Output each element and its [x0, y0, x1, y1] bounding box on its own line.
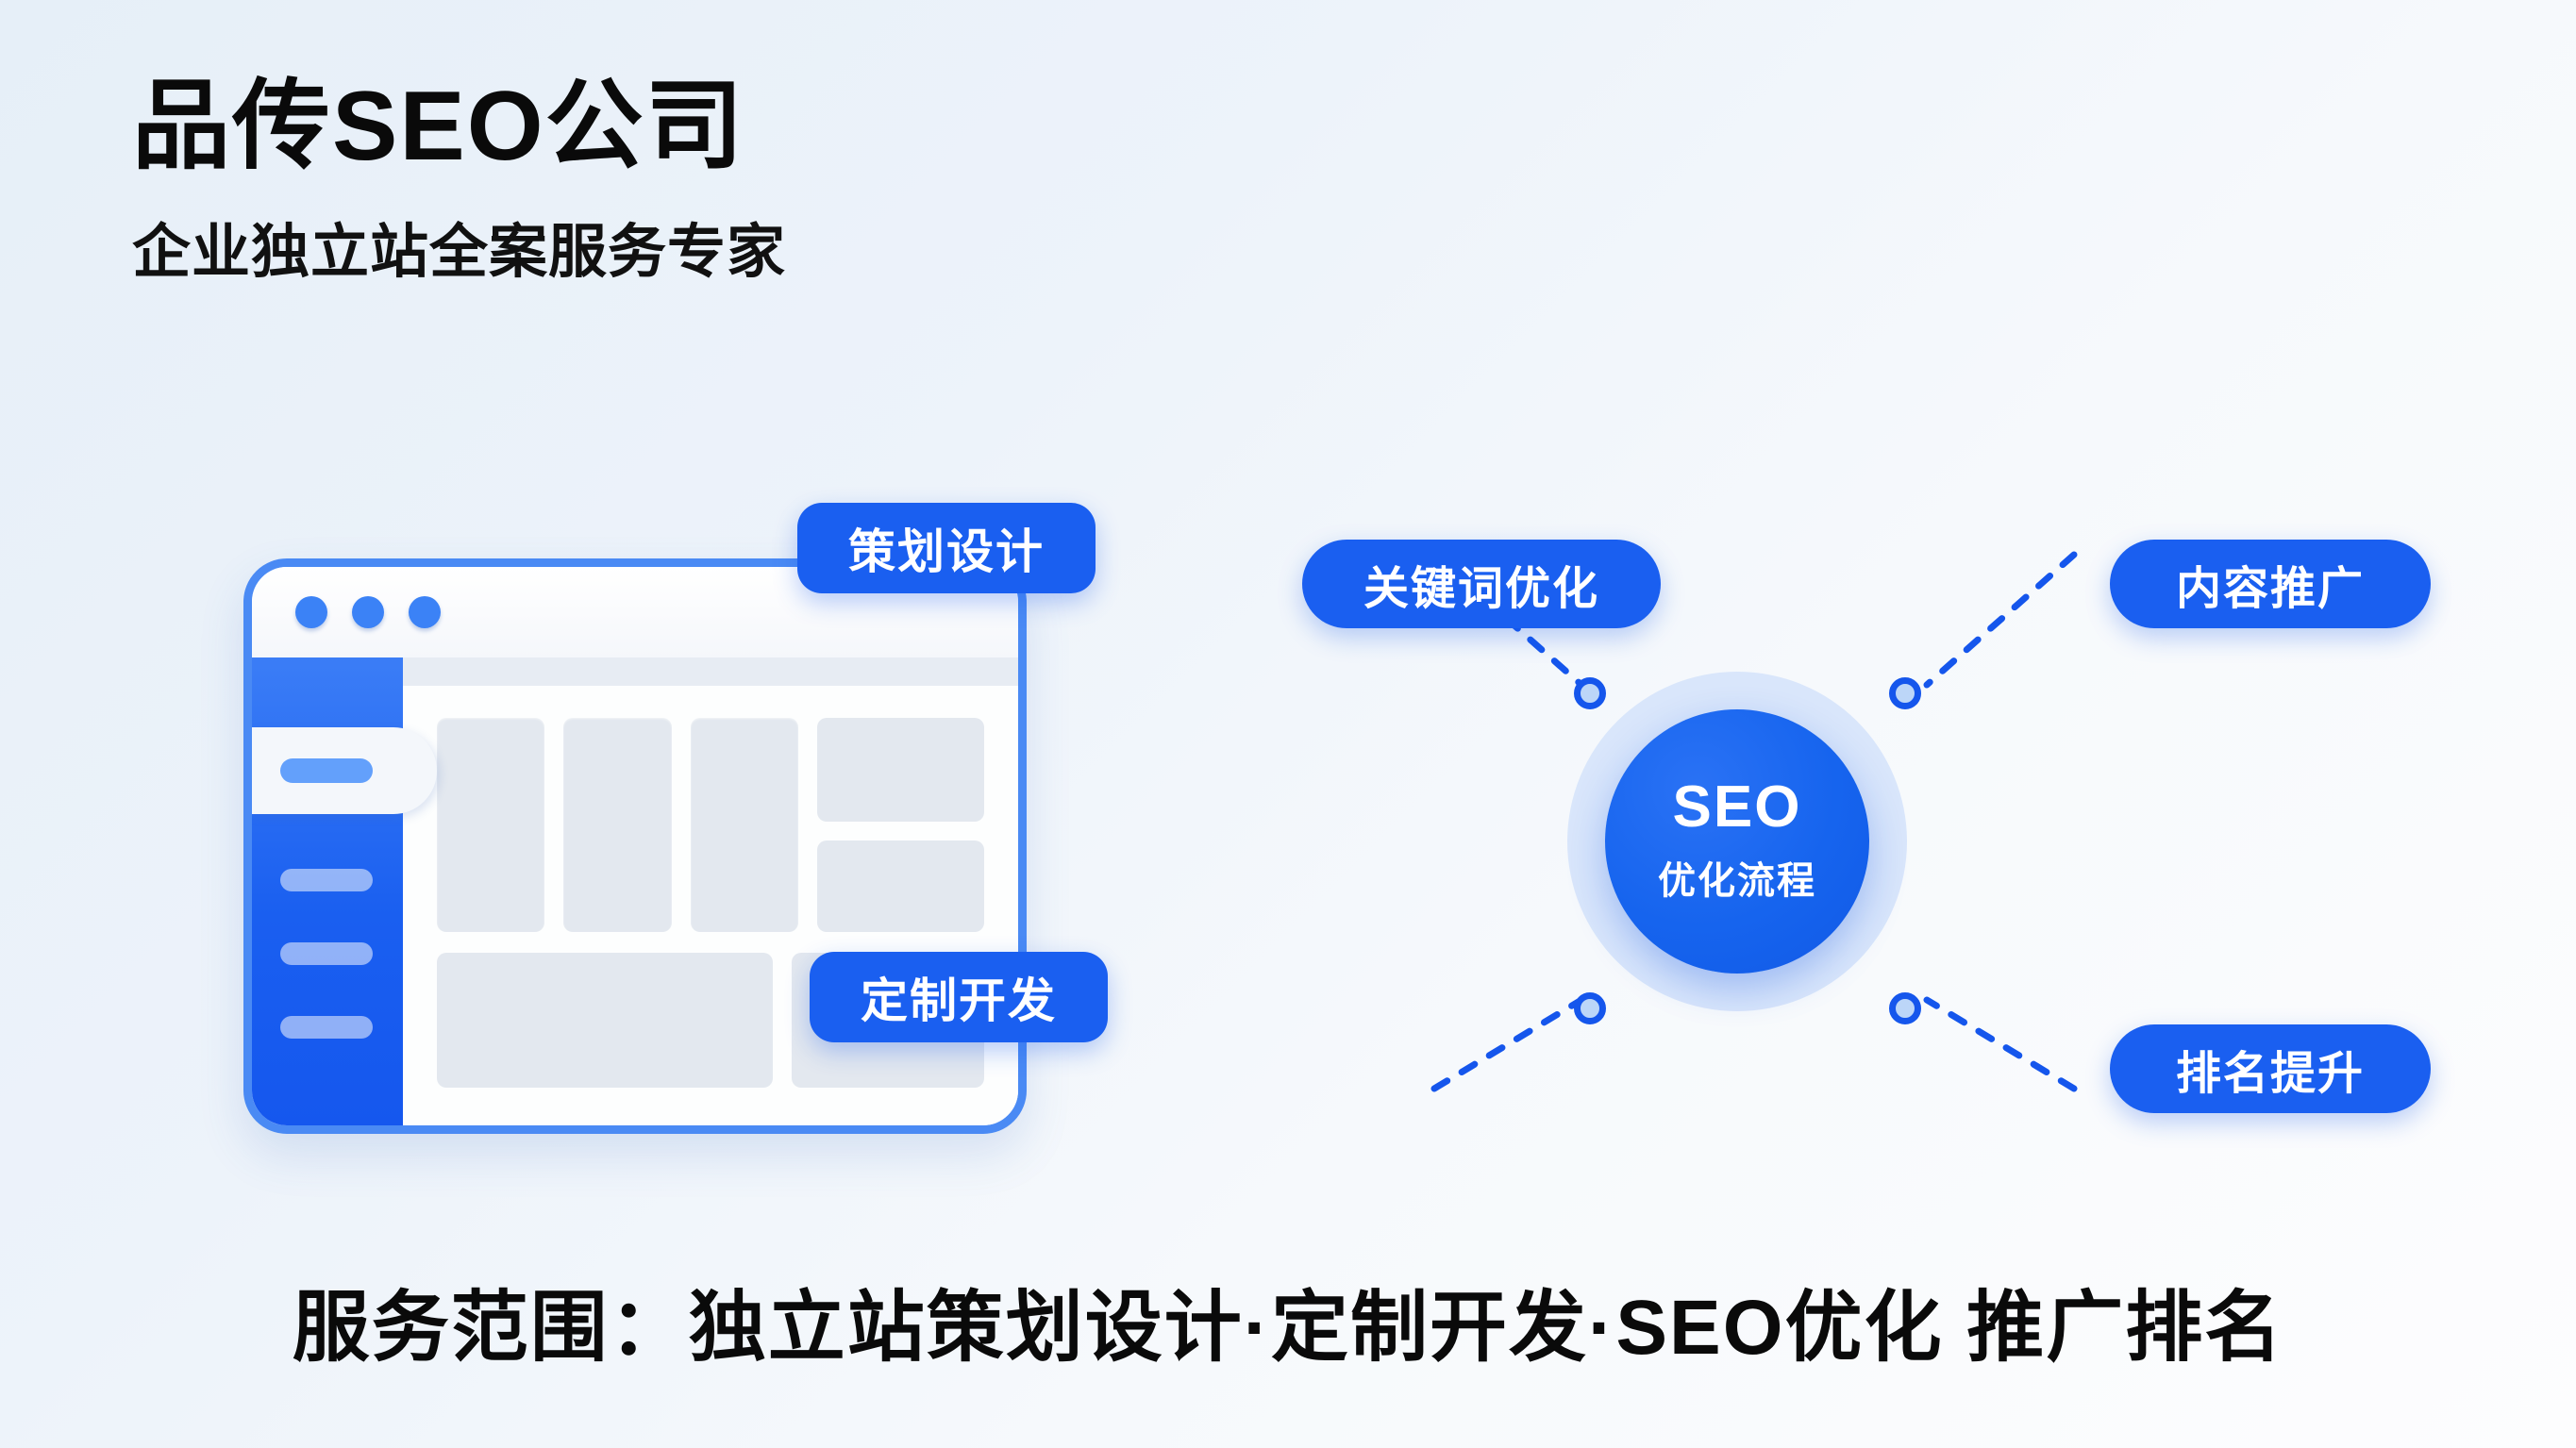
- mockup-placeholder-block: [691, 718, 798, 932]
- window-dot-icon: [409, 596, 441, 628]
- sidebar-item-bar: [280, 758, 373, 783]
- mockup-layout-grid: [403, 686, 1018, 1125]
- mockup-placeholder-block: [563, 718, 671, 932]
- sidebar-item-bar: [280, 869, 373, 891]
- diagram-node-bottom-right-icon: [1889, 992, 1921, 1024]
- mockup-sidebar: [252, 657, 403, 1125]
- badge-keyword-optimization: 关键词优化: [1302, 540, 1661, 628]
- mockup-grid-right-column: [817, 718, 984, 932]
- page-header: 品传SEO公司 企业独立站全案服务专家: [132, 74, 786, 289]
- mockup-placeholder-block: [437, 953, 773, 1088]
- mockup-content-toolbar: [403, 657, 1018, 686]
- diagram-node-bottom-left-icon: [1574, 992, 1606, 1024]
- mockup-placeholder-block: [817, 718, 984, 822]
- window-dot-icon: [352, 596, 384, 628]
- diagram-node-top-left-icon: [1574, 677, 1606, 709]
- mockup-placeholder-block: [437, 718, 544, 932]
- badge-plan-design: 策划设计: [797, 503, 1096, 593]
- badge-content-promotion: 内容推广: [2110, 540, 2431, 628]
- service-scope-footer: 服务范围：独立站策划设计·定制开发·SEO优化 推广排名: [0, 1264, 2576, 1376]
- badge-ranking-improvement: 排名提升: [2110, 1024, 2431, 1113]
- browser-window-frame: [243, 558, 1027, 1134]
- mockup-placeholder-block: [817, 841, 984, 933]
- seo-process-diagram: SEO 优化流程 关键词优化 内容推广 排名提升: [1302, 509, 2482, 1132]
- sidebar-item-bar: [280, 1016, 373, 1039]
- mockup-grid-upper-row: [437, 718, 984, 932]
- browser-body: [252, 657, 1018, 1125]
- badge-custom-development: 定制开发: [810, 952, 1108, 1042]
- page-subtitle: 企业独立站全案服务专家: [132, 204, 786, 289]
- website-mockup-illustration: [243, 558, 1027, 1134]
- window-dot-icon: [295, 596, 327, 628]
- connector-bottom-right: [1927, 1000, 2074, 1089]
- sidebar-item-active: [252, 727, 437, 814]
- connector-top-right: [1927, 555, 2074, 685]
- diagram-node-top-right-icon: [1889, 677, 1921, 709]
- sidebar-item-bar: [280, 942, 373, 965]
- connector-bottom-left: [1434, 1000, 1581, 1089]
- mockup-content-area: [403, 657, 1018, 1125]
- page-title: 品传SEO公司: [132, 74, 786, 179]
